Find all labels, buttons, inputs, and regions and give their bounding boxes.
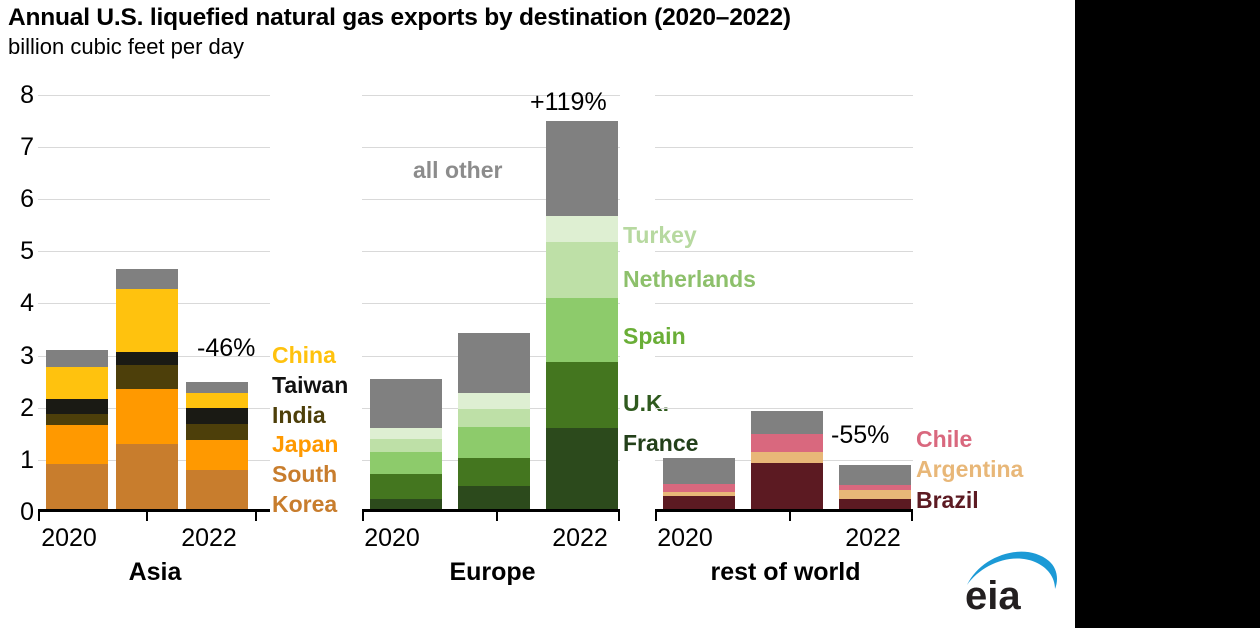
y-tick-label: 7	[4, 135, 34, 160]
bar-rest-of-world-2022[interactable]	[839, 465, 911, 509]
segment-turkey	[370, 428, 442, 439]
segment-china	[186, 393, 248, 408]
segment-chile	[839, 485, 911, 490]
eia-logo: eia	[963, 543, 1063, 615]
svg-text:eia: eia	[965, 574, 1021, 615]
axis-baseline-rest-of-world	[655, 509, 913, 512]
y-axis: 8 7 6 5 4 3 2 1 0	[0, 95, 34, 512]
segment-netherlands	[546, 242, 618, 298]
panel-asia	[38, 95, 270, 512]
y-tick-label: 3	[4, 344, 34, 369]
segment-chile	[751, 434, 823, 452]
segment-taiwan	[186, 408, 248, 424]
series-label-india: India	[272, 404, 326, 428]
bar-rest-of-world-2020[interactable]	[663, 458, 735, 509]
y-tick-label: 2	[4, 396, 34, 421]
right-gutter	[1075, 0, 1260, 628]
chart-canvas: Annual U.S. liquefied natural gas export…	[0, 0, 1075, 628]
segment-uk	[546, 362, 618, 428]
series-label-south-korea-line1: South	[272, 463, 337, 487]
segment-brazil	[839, 499, 911, 509]
segment-turkey	[546, 216, 618, 242]
segment-india	[46, 414, 108, 425]
segment-india	[186, 424, 248, 440]
segment-chile	[663, 484, 735, 492]
segment-all-other	[186, 382, 248, 393]
segment-all-other	[370, 379, 442, 428]
segment-all-other	[116, 269, 178, 289]
y-tick-label: 4	[4, 291, 34, 316]
series-label-argentina: Argentina	[916, 458, 1023, 482]
segment-brazil	[751, 463, 823, 509]
series-label-china: China	[272, 344, 336, 368]
segment-china	[116, 289, 178, 352]
series-label-chile: Chile	[916, 428, 972, 452]
y-tick-label: 1	[4, 448, 34, 473]
axis-baseline-europe	[362, 509, 620, 512]
segment-spain	[370, 452, 442, 474]
segment-all-other	[751, 411, 823, 434]
bar-rest-of-world-2021[interactable]	[751, 411, 823, 509]
segment-taiwan	[116, 352, 178, 365]
xtick-asia-2022: 2022	[144, 524, 274, 553]
series-label-japan: Japan	[272, 433, 338, 457]
y-tick-label: 8	[4, 83, 34, 108]
segment-all-other	[546, 121, 618, 216]
segment-argentina	[663, 492, 735, 496]
change-label-asia: -46%	[197, 334, 255, 363]
xtick-europe-2020: 2020	[327, 524, 457, 553]
bar-europe-2020[interactable]	[370, 379, 442, 509]
y-tick-label: 5	[4, 239, 34, 264]
segment-turkey	[458, 393, 530, 409]
segment-japan	[46, 425, 108, 464]
panel-caption-asia: Asia	[40, 558, 270, 587]
segment-all-other	[839, 465, 911, 485]
segment-taiwan	[46, 399, 108, 414]
segment-uk	[370, 474, 442, 499]
y-tick-label: 6	[4, 187, 34, 212]
segment-uk	[458, 458, 530, 486]
segment-all-other	[458, 333, 530, 393]
segment-france	[546, 428, 618, 509]
segment-all-other	[663, 458, 735, 484]
segment-france	[458, 486, 530, 509]
segment-all-other	[46, 350, 108, 367]
change-label-rest-of-world: -55%	[831, 421, 889, 450]
segment-china	[46, 367, 108, 399]
segment-japan	[116, 389, 178, 444]
segment-japan	[186, 440, 248, 470]
series-label-brazil: Brazil	[916, 489, 979, 513]
series-label-south-korea-line2: Korea	[272, 493, 337, 517]
segment-argentina	[839, 490, 911, 499]
segment-netherlands	[458, 409, 530, 427]
segment-spain	[458, 427, 530, 458]
segment-netherlands	[370, 439, 442, 452]
segment-south-korea	[46, 464, 108, 509]
bar-asia-2021[interactable]	[116, 269, 178, 509]
chart-title: Annual U.S. liquefied natural gas export…	[8, 4, 1008, 32]
bar-europe-2022[interactable]	[546, 121, 618, 509]
bar-asia-2022[interactable]	[186, 382, 248, 509]
panel-caption-europe: Europe	[365, 558, 620, 587]
chart-subtitle: billion cubic feet per day	[8, 34, 808, 60]
bar-asia-2020[interactable]	[46, 350, 108, 509]
all-other-note-europe: all other	[413, 157, 502, 184]
xtick-rest-of-world-2022: 2022	[808, 524, 938, 553]
segment-south-korea	[116, 444, 178, 509]
y-tick-label: 0	[4, 500, 34, 525]
axis-baseline-asia	[38, 509, 270, 512]
xtick-asia-2020: 2020	[4, 524, 134, 553]
xtick-rest-of-world-2020: 2020	[620, 524, 750, 553]
segment-spain	[546, 298, 618, 362]
change-label-europe: +119%	[530, 88, 607, 117]
segment-south-korea	[186, 470, 248, 509]
bar-europe-2021[interactable]	[458, 333, 530, 509]
series-label-taiwan: Taiwan	[272, 374, 348, 398]
segment-india	[116, 365, 178, 389]
panel-caption-rest-of-world: rest of world	[658, 558, 913, 587]
segment-france	[370, 499, 442, 509]
segment-brazil	[663, 496, 735, 509]
segment-argentina	[751, 452, 823, 463]
